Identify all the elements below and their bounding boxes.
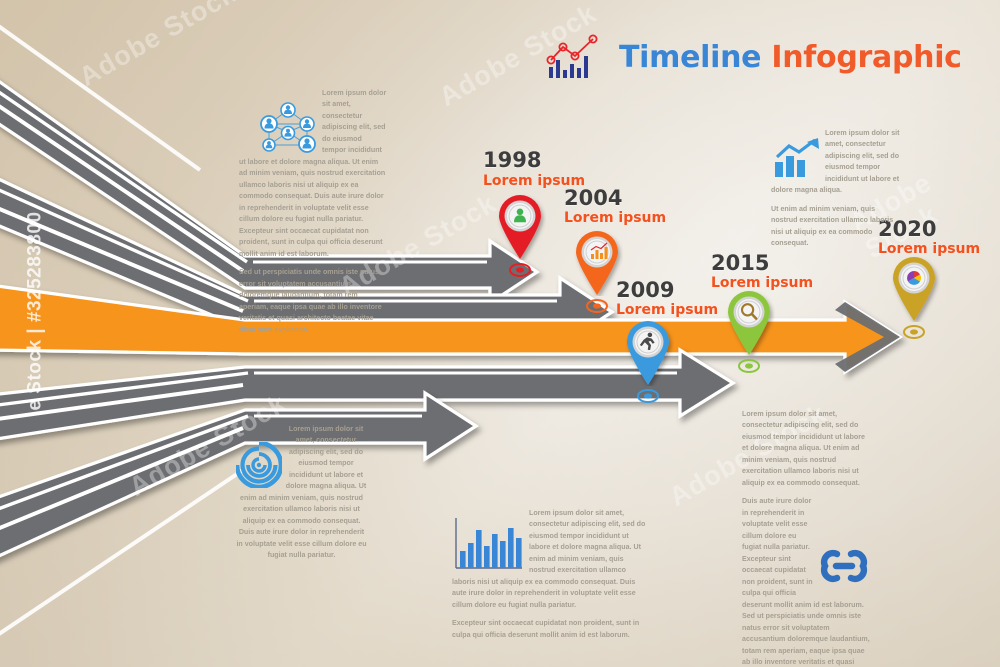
spiral-target-icon <box>236 442 282 488</box>
title-part-1: Timeline <box>619 40 771 75</box>
bar-chart-icon <box>452 516 524 574</box>
people-network-icon <box>257 102 319 154</box>
milestone-year: 1998 <box>483 148 541 172</box>
milestone-label: Lorem ipsum <box>564 210 666 226</box>
text-block-top-left: Lorem ipsum dolor sit amet, consectetur … <box>239 88 387 343</box>
title-part-2: Infographic <box>771 40 961 75</box>
paragraph: Excepteur sint occaecat cupidatat non pr… <box>452 618 648 641</box>
text-block-bottom-center: Lorem ipsum dolor sit amet, consectetur … <box>452 508 648 648</box>
paragraph: Lorem ipsum dolor sit amet, consectetur … <box>742 409 870 489</box>
text-block-top-right: Lorem ipsum dolor sit amet, consectetur … <box>771 128 901 257</box>
text-block-bottom-right: Lorem ipsum dolor sit amet, consectetur … <box>742 409 870 667</box>
map-pin-marker[interactable] <box>723 288 775 356</box>
milestone-year: 2015 <box>711 251 769 275</box>
pin-base-dot <box>903 325 925 339</box>
pin-base-dot <box>637 389 659 403</box>
chain-link-icon <box>818 542 870 588</box>
pin-base-dot <box>738 359 760 373</box>
paragraph: Ut enim ad minim veniam, quis nostrud ex… <box>771 204 901 250</box>
milestone-year: 2009 <box>616 278 674 302</box>
pie-chart-icon <box>907 271 921 285</box>
milestone-year: 2004 <box>564 186 622 210</box>
line-bar-chart-icon <box>545 34 607 80</box>
paragraph: Sed ut perspiciatis unde omnis iste natu… <box>239 267 387 336</box>
map-pin-marker[interactable] <box>888 254 940 322</box>
header: Timeline Infographic <box>545 34 962 80</box>
growth-chart-icon <box>773 138 821 178</box>
text-block-bottom-left: Lorem ipsum dolor sit amet, consectetur … <box>236 424 367 569</box>
pin-base-dot <box>509 263 531 277</box>
milestone-label: Lorem ipsum <box>616 302 718 318</box>
page-title: Timeline Infographic <box>619 40 962 75</box>
infographic-canvas: Adobe Stock Adobe Stock Adobe Stock Adob… <box>0 0 1000 667</box>
map-pin-marker[interactable] <box>622 318 674 386</box>
map-pin-marker[interactable] <box>494 192 546 260</box>
pin-base-dot <box>586 299 608 313</box>
